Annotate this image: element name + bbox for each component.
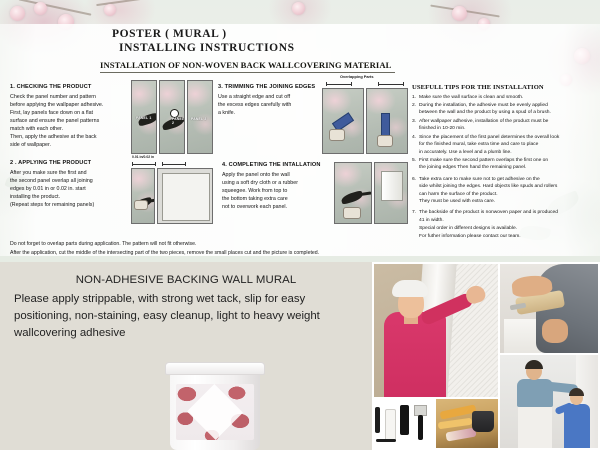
illustration-step4-left	[334, 162, 372, 224]
tip-item: 7. The backside of the product is nonwov…	[412, 209, 596, 224]
blossom-icon	[34, 2, 47, 15]
step-3-line: the excess edges carefully with	[218, 101, 330, 109]
tip-text: Since the placement of the first panel d…	[419, 134, 596, 156]
photo-collage	[372, 262, 600, 450]
man-hair	[525, 360, 543, 369]
tips-section: USEFULL TIPS FOR THE INSTALLATION 1. Mak…	[412, 84, 596, 240]
tip-line: finished in 10-20 min.	[419, 126, 466, 131]
child-hair	[569, 388, 584, 396]
person-hand	[542, 319, 568, 343]
tips-extra-line: For futher information please contact ou…	[419, 233, 596, 240]
measure-marker	[162, 162, 186, 166]
footer-notes: Do not forget to overlap parts during ap…	[10, 240, 595, 258]
wall-surface	[162, 173, 210, 221]
step-1-body: Check the panel number and pattern befor…	[10, 93, 122, 149]
tip-line: The backside of the product is nonwoven …	[419, 210, 558, 215]
illustration-panel-2: PANEL 2	[159, 80, 185, 154]
step-4-line: Apply the panel onto the wall	[222, 171, 332, 179]
step-2-line: edges by 0.01 in or 0.02 in. start	[10, 185, 122, 193]
tip-line: between the wall and the product by usin…	[419, 110, 551, 115]
tip-line: They must be used with extra care.	[419, 199, 495, 204]
step-1-checking-the-product: 1. CHECKING THE PRODUCT Check the panel …	[10, 84, 122, 149]
page-title: POSTER ( MURAL ) INSTALLING INSTRUCTIONS	[112, 28, 295, 54]
sponge-tool-icon	[385, 409, 396, 442]
tip-line: Since the placement of the first panel d…	[419, 135, 559, 140]
step-1-line: Then, apply the adhesive at the back	[10, 133, 122, 141]
step-1-line: match with each other.	[10, 125, 122, 133]
step-3-line: Use a straight edge and cut off	[218, 93, 330, 101]
tip-number: 1.	[412, 94, 419, 101]
tip-number: 2.	[412, 102, 419, 117]
tip-item: 5. First make sure the second pattern ov…	[412, 157, 596, 172]
title-line-1: POSTER ( MURAL )	[112, 28, 295, 40]
tip-text: During the installation, the adhesive mu…	[419, 102, 596, 117]
tip-number: 5.	[412, 157, 419, 172]
tip-line: First make sure the second pattern overl…	[419, 158, 548, 163]
description-body: Please apply strippable, with strong wet…	[14, 291, 358, 342]
measure-marker	[132, 162, 156, 166]
cutter-tool-icon	[376, 439, 396, 442]
step-2-line: (Repeat steps for remaining panels)	[10, 201, 122, 209]
step-4-line: squeegee. Work from top to	[222, 187, 332, 195]
step-2-line: the second panel overlap all joining	[10, 177, 122, 185]
photo-wallpaper-rolls	[436, 399, 498, 448]
blossom-icon	[104, 4, 116, 16]
step-1-title: 1. CHECKING THE PRODUCT	[10, 84, 122, 90]
step-4-line: using a soft dry cloth or a rubber	[222, 179, 332, 187]
tips-extra-line: Special order in different designs is av…	[419, 225, 596, 232]
step-2-title: 2 . APPLYING THE PRODUCT	[10, 160, 122, 166]
panel-2-label: PANEL 2	[172, 117, 184, 125]
hand-illustration	[377, 135, 393, 147]
tip-item: 6. Take extra care to make sure not to g…	[412, 176, 596, 205]
tip-number: 4.	[412, 134, 419, 156]
footer-note-line: Do not forget to overlap parts during ap…	[10, 240, 595, 249]
woman-torso	[384, 312, 446, 397]
paste-pot-icon	[472, 411, 494, 432]
illustration-step2-panel-left	[131, 168, 155, 224]
blossom-icon	[292, 2, 305, 15]
step-2-line: After you make sure the first and	[10, 169, 122, 177]
step-1-line: surface and ensure the panel patterns	[10, 117, 122, 125]
wallpaper-roll	[445, 427, 476, 441]
tip-line: in accurately. Use a level and a plumb l…	[419, 150, 512, 155]
panel-1-label: PANEL 1	[136, 116, 151, 120]
tip-line: for the finished mural, take extra time …	[419, 142, 538, 147]
tip-line: 41 in width.	[419, 218, 444, 223]
step-2-body: After you make sure the first and the se…	[10, 169, 122, 209]
hand-illustration	[343, 207, 361, 219]
step-4-line: not to overwork each panel.	[222, 203, 332, 211]
instruction-sheet: POSTER ( MURAL ) INSTALLING INSTRUCTIONS…	[0, 0, 600, 450]
wallpaper-roll	[440, 404, 477, 419]
wallpaper-roll	[438, 418, 473, 430]
step-2-line: installing the product.	[10, 193, 122, 201]
step-3-body: Use a straight edge and cut off the exce…	[218, 93, 330, 117]
overlap-note: Overlapping Parts	[340, 74, 374, 79]
step-4-line: the bottom taking extra care	[222, 195, 332, 203]
step-1-line: side of wallpaper.	[10, 141, 122, 149]
scraper-handle	[418, 415, 423, 440]
tip-line: During the installation, the adhesive mu…	[419, 103, 548, 108]
knife-tool-icon	[375, 407, 380, 433]
tips-title: USEFULL TIPS FOR THE INSTALLATION	[412, 84, 596, 91]
smoother-tool-icon	[400, 405, 409, 435]
tip-line: After wallpaper adhesive, installation o…	[419, 119, 548, 124]
illustration-step2-wall	[157, 168, 213, 224]
step-4-title: 4. COMPLETING THE INTALLATION	[222, 162, 332, 168]
woman-cap	[392, 280, 428, 297]
photo-woman-hanging-wallpaper	[374, 264, 498, 397]
tip-item: 2. During the installation, the adhesive…	[412, 102, 596, 117]
tip-text: Make sure the wall surface is clean and …	[419, 94, 596, 101]
tip-text: Take extra care to make sure not to get …	[419, 176, 596, 205]
panel-3-label: PANEL 3	[191, 117, 206, 121]
illustration-step3-left	[322, 88, 364, 154]
tip-line: can harm the surface of the product.	[419, 192, 498, 197]
tip-number: 6.	[412, 176, 419, 205]
illustration-panel-3: PANEL 3	[187, 80, 213, 154]
step-3-line: a knife.	[218, 109, 330, 117]
tip-item: 1. Make sure the wall surface is clean a…	[412, 94, 596, 101]
bird-motif	[340, 190, 364, 205]
measure-marker	[326, 82, 352, 86]
description-heading: NON-ADHESIVE BACKING WALL MURAL	[14, 274, 358, 286]
tip-item: 3. After wallpaper adhesive, installatio…	[412, 118, 596, 133]
title-line-2: INSTALLING INSTRUCTIONS	[119, 42, 295, 54]
step-1-line: Check the panel number and pattern	[10, 93, 122, 101]
step-1-line: First, lay panels face down on a flat	[10, 109, 122, 117]
tip-text: After wallpaper adhesive, installation o…	[419, 118, 596, 133]
adhesive-bucket-image	[163, 362, 267, 450]
step-3-trimming-the-joining-edges: 3. TRIMMING THE JOINING EDGES Use a stra…	[218, 84, 330, 117]
hand-illustration	[134, 200, 148, 210]
tips-extra: Special order in different designs is av…	[419, 225, 596, 240]
blossom-icon	[10, 6, 25, 21]
step-4-completing-the-installation: 4. COMPLETING THE INTALLATION Apply the …	[222, 162, 332, 211]
photo-man-and-child	[500, 355, 598, 448]
photo-tools	[374, 399, 434, 448]
photo-roller-hands	[500, 264, 598, 353]
tip-number: 7.	[412, 209, 419, 224]
measure-note: 0.01 in/0.02 in	[132, 155, 154, 159]
bucket-lid	[165, 362, 265, 375]
step-4-body: Apply the panel onto the wall using a so…	[222, 171, 332, 211]
tip-item: 4. Since the placement of the first pane…	[412, 134, 596, 156]
step-3-title: 3. TRIMMING THE JOINING EDGES	[218, 84, 330, 90]
step-1-line: before applying the wallpaper adhesive.	[10, 101, 122, 109]
blossom-icon	[452, 6, 467, 21]
man-trousers	[518, 405, 552, 448]
bucket-label	[176, 384, 254, 440]
tip-text: The backside of the product is nonwoven …	[419, 209, 596, 224]
step-2-applying-the-product: 2 . APPLYING THE PRODUCT After you make …	[10, 160, 122, 209]
measure-marker	[378, 82, 404, 86]
illustration-step4-right	[374, 162, 408, 224]
tip-line: the joining edges Then hand the remainin…	[419, 165, 526, 170]
illustration-step3-right	[366, 88, 408, 154]
footer-note-line: After the application, cut the middle of…	[10, 249, 595, 258]
hand-illustration	[329, 129, 345, 141]
tip-line: side whilst joining the edges. Hard obje…	[419, 184, 557, 189]
branch-decoration	[19, 0, 92, 16]
page-subtitle: INSTALLATION OF NON-WOVEN BACK WALLCOVER…	[100, 60, 395, 73]
tip-number: 3.	[412, 118, 419, 133]
tip-line: Take extra care to make sure not to get …	[419, 177, 540, 182]
tip-text: First make sure the second pattern overl…	[419, 157, 596, 172]
wallpaper-roll-icon	[381, 171, 403, 201]
